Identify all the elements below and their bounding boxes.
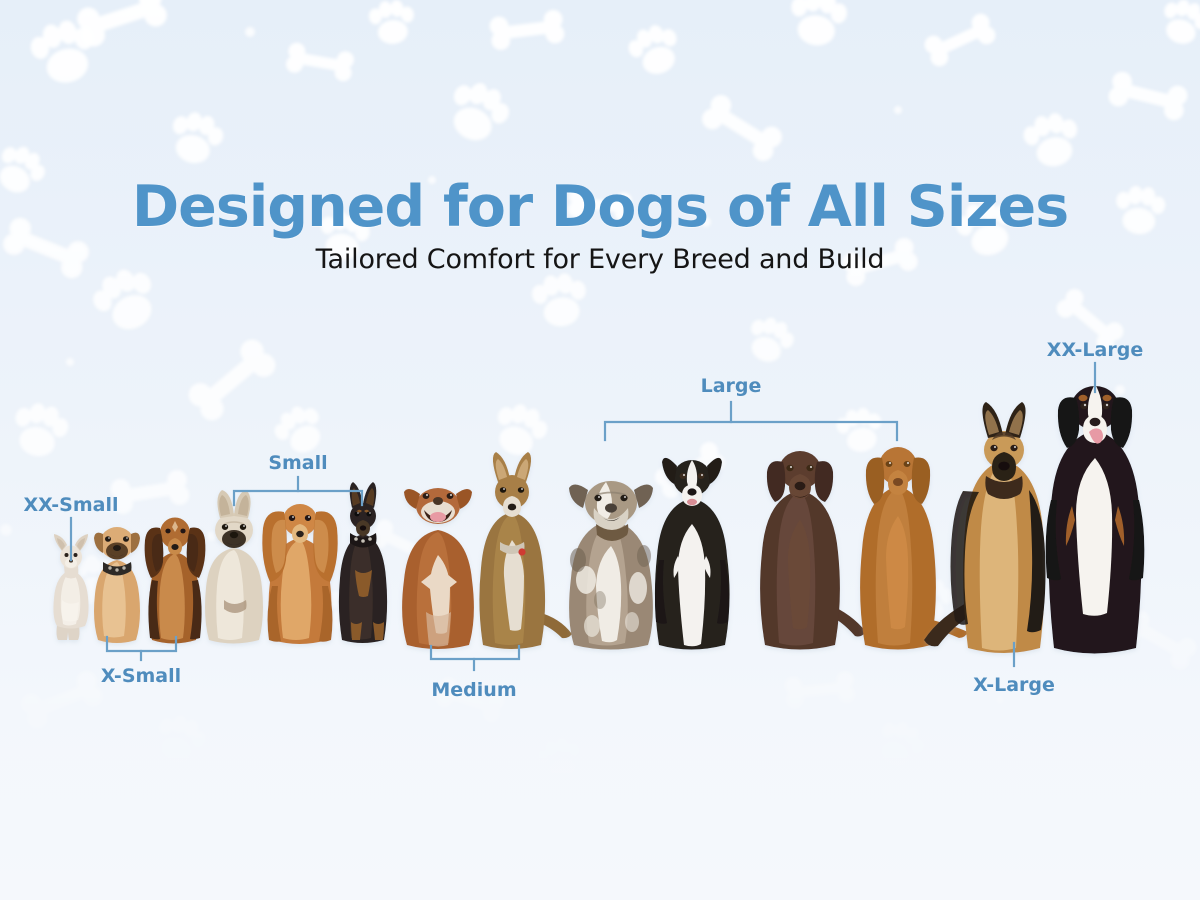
size-label-x-small: X-Small — [101, 665, 181, 687]
size-bracket-layer — [0, 0, 1200, 900]
bracket-x-small — [107, 637, 176, 660]
size-label-xx-large: XX-Large — [1047, 339, 1143, 361]
bracket-large — [605, 402, 897, 440]
bracket-small — [234, 477, 362, 505]
size-label-large: Large — [701, 375, 762, 397]
size-label-medium: Medium — [431, 679, 516, 701]
infographic-canvas: Designed for Dogs of All Sizes Tailored … — [0, 0, 1200, 900]
size-label-small: Small — [268, 452, 327, 474]
size-label-x-large: X-Large — [973, 674, 1055, 696]
bracket-medium — [431, 646, 519, 670]
size-label-xx-small: XX-Small — [24, 494, 119, 516]
